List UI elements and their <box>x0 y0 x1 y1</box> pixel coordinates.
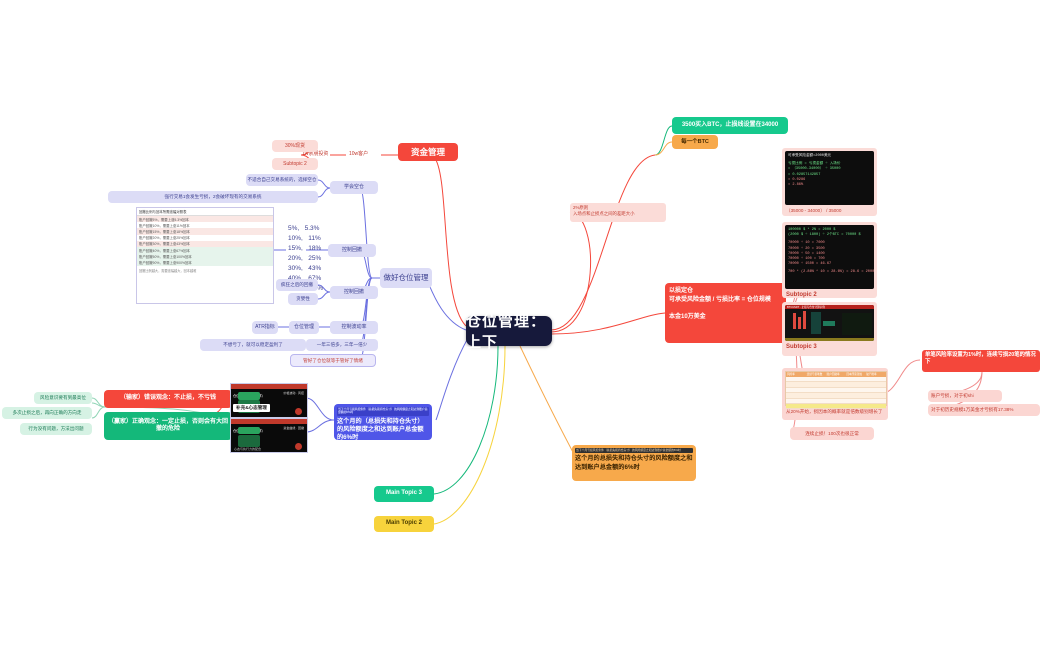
node-history-scale-loss[interactable]: 对于初历史规模1万美金才亏损有17.38% <box>928 404 1040 416</box>
node-main-topic-3[interactable]: Main Topic 3 <box>374 486 434 502</box>
central-node[interactable]: 仓位管理：上下 <box>466 316 552 346</box>
pct-dd-4: 30% <box>288 265 301 272</box>
risk-limit-orange-header: 当下个月亏损风控条件（总损失和持仓头寸）的风险额度之和达到账户总金额的6%时 <box>575 448 693 453</box>
mindmap-canvas: 仓位管理：上下 资金管理 10w客户 1w亲朋投资 30%现货 Subtopic… <box>0 0 1049 650</box>
node-manage-position-equals-emotion[interactable]: 管好了仓位就等于管好了情绪 <box>290 354 376 367</box>
formula-caption: （35000 - 34000） / 35000 <box>785 205 874 214</box>
risk-limit-orange-label: 这个月的总损失和持仓头寸的风险额度之和达到账户总金额的6%时 <box>575 455 693 472</box>
candle-2 <box>798 317 801 329</box>
pct-dd-3: 20% <box>288 255 301 262</box>
sheet-title: 回撤比例与回本所需涨幅对照表 <box>137 208 273 216</box>
chart-card-label: Subtopic 3 <box>785 341 874 350</box>
chart-title-bar: BTCUSDT · 止损与仓位计算示例 <box>785 305 874 309</box>
node-not-suitable-system[interactable]: 不适合自己交易系统的，选择空仓 <box>246 174 318 186</box>
pct-rc-2: 18% <box>308 245 321 252</box>
node-account-loss-beginner[interactable]: 账户亏损，对于初shi <box>928 390 1002 402</box>
risk-limit-blue-label: 这个月的（总损失和持仓头寸）的风险额度之和达到账户总金额的6%时 <box>337 418 429 443</box>
chart-card[interactable]: BTCUSDT · 止损与仓位计算示例 Subtopic 3 <box>782 302 877 356</box>
th: 破产概率 <box>866 372 886 377</box>
node-each-btc[interactable]: 每一个BTC <box>672 135 718 149</box>
node-position-mgmt-sub[interactable]: 仓位管理 <box>289 321 319 334</box>
formula-code-block: 可承受风险金额=2000美元 亏损比例 = 亏损金额 ÷ 入场价 = （3500… <box>785 151 874 205</box>
calc-card-label: Subtopic 2 <box>785 289 874 298</box>
node-control-volatility[interactable]: 控制波动率 <box>330 321 378 334</box>
node-consecutive-stoploss-note[interactable]: 连续止损！100次也很正常 <box>790 427 874 440</box>
video-corner-text: 价格波动 · 风控 <box>283 391 304 395</box>
formula-line: ≈ 2.86% <box>788 183 871 188</box>
th: 账户回撤率 <box>827 372 847 377</box>
calc-line: 700 * (2.86% * 10 = 28.6%) = 28.6 = 2000… <box>788 270 871 275</box>
node-buy-btc-stoploss[interactable]: 3500买入BTC，止损线设置在34000 <box>672 117 788 134</box>
calc-code-block: 100000 $ * 2% = 2000 $ (2000 $ ÷ 1800) ÷… <box>785 225 874 289</box>
th: 连续亏损笔数 <box>807 372 827 377</box>
formula-card[interactable]: 可承受风险金额=2000美元 亏损比例 = 亏损金额 ÷ 入场价 = （3500… <box>782 148 877 216</box>
pct-rc-1: 11% <box>308 235 321 242</box>
node-two-percent-rule[interactable]: 2%原则 入场点和止损点之间的差距大小 <box>570 203 666 222</box>
node-three-times-a-year[interactable]: 一年三倍多，三年一倍少 <box>306 339 378 351</box>
drawdown-table-screenshot[interactable]: 回撤比例与回本所需涨幅对照表 账户回撤5%，需要上涨5.3%回本 账户回撤10%… <box>136 207 274 304</box>
video-caption: 心态与执行力的配合 <box>234 447 261 451</box>
zone-box <box>811 312 821 334</box>
pct-dd-2: 15% <box>288 245 301 252</box>
video-caption: 补充&心态管理 <box>233 404 270 412</box>
video-graphic-body <box>238 435 260 447</box>
entry-marker <box>823 321 835 326</box>
th: 回本所需涨幅 <box>846 372 866 377</box>
video-graphic-top <box>238 427 260 434</box>
node-30-percent-spot[interactable]: 30%现货 <box>272 140 318 152</box>
video-card-2[interactable]: 仓位管理（实操教学） 资金曲线 · 回撤 心态与执行力的配合 <box>230 418 308 453</box>
node-risk-awareness-max[interactable]: 风险意识要有到最高位 <box>34 392 92 404</box>
probability-spreadsheet: 风险率 连续亏损笔数 账户回撤率 回本所需涨幅 破产概率 <box>785 371 887 406</box>
node-loser-wrong-mindset[interactable]: （输家）错误观念：不止损，不亏钱 <box>104 390 232 408</box>
calc-line: (2000 $ ÷ 1800) ÷ 2个BTC = 70000 $ <box>788 233 871 238</box>
pct-rc-4: 43% <box>308 265 321 272</box>
node-loss-based-sizing[interactable]: 以损定仓 可承受风险金额 / 亏损比率 = 仓位规模 本金10万美金 <box>665 283 786 343</box>
node-subtopic-2-left[interactable]: Subtopic 2 <box>272 158 318 170</box>
video-avatar-icon <box>295 443 302 450</box>
risk-limit-blue-header: 当下个月亏损风控条件（总损失和持仓头寸）的风险额度之和达到账户总金额的6%时 <box>337 407 429 416</box>
table-row-highlight <box>786 404 886 409</box>
node-position-management[interactable]: 做好仓位管理 <box>380 268 432 288</box>
video-avatar-icon <box>295 408 302 415</box>
sheet-caption: 回撤比例越大，需要涨幅越大，回本越难 <box>137 266 273 275</box>
node-greed[interactable]: 贪婪性 <box>288 293 318 305</box>
pct-dd-0: 5% <box>288 225 297 232</box>
candle-1 <box>793 313 796 329</box>
node-behavior-ok-method-wrong[interactable]: 行为没有问题，方法出问题 <box>20 423 92 435</box>
node-monthly-risk-limit-blue[interactable]: 当下个月亏损风控条件（总损失和持仓头寸）的风险额度之和达到账户总金额的6%时 这… <box>334 404 432 440</box>
candle-3 <box>803 311 806 329</box>
node-control-drawdown-1[interactable]: 控制回撤 <box>328 244 376 257</box>
node-10w-client[interactable]: 10w客户 <box>349 150 368 157</box>
node-capital-management[interactable]: 资金管理 <box>398 143 458 161</box>
video-graphic-top <box>238 392 260 400</box>
order-book <box>842 313 872 335</box>
pct-rc-0: 5.3% <box>305 225 320 232</box>
th: 风险率 <box>786 372 807 377</box>
video-corner-text: 资金曲线 · 回撤 <box>283 426 304 430</box>
node-not-losing-is-profit[interactable]: 不想亏了，就可以稳定盈利了 <box>200 339 306 351</box>
node-drawdown-after-mania[interactable]: 疯狂之后的回撤 <box>276 279 318 291</box>
node-control-drawdown-2[interactable]: 控制回撤 <box>330 286 378 299</box>
node-monthly-risk-limit-orange[interactable]: 当下个月亏损风控条件（总损失和持仓头寸）的风险额度之和达到账户总金额的6%时 这… <box>572 445 696 481</box>
node-main-topic-2[interactable]: Main Topic 2 <box>374 516 434 532</box>
pct-rc-3: 25% <box>308 255 321 262</box>
video-card-1[interactable]: 仓位管理（实操教学） 价格波动 · 风控 补充&心态管理 <box>230 383 308 418</box>
node-learn-empty-position[interactable]: 学会空仓 <box>330 181 378 194</box>
pct-dd-1: 10% <box>288 235 301 242</box>
chart-footer-bar <box>785 338 874 341</box>
node-one-percent-risk-20-losses[interactable]: 单笔风险率设置为1%时，连续亏损20笔的情况下 <box>922 350 1040 372</box>
trading-chart-screenshot: BTCUSDT · 止损与仓位计算示例 <box>785 305 874 341</box>
node-after-stops-right-direction[interactable]: 多次止损之后，再向正确的方向走 <box>2 407 92 419</box>
table-header-row: 风险率 连续亏损笔数 账户回撤率 回本所需涨幅 破产概率 <box>786 372 886 377</box>
node-forced-trade-risk[interactable]: 强行交易1会发生亏损，2会破坏现有的交易系统 <box>108 191 318 203</box>
probability-table-card[interactable]: 风险率 连续亏损笔数 账户回撤率 回本所需涨幅 破产概率 从20%开始，损因本的… <box>782 368 888 420</box>
node-atr-indicator[interactable]: ATR指标 <box>252 321 278 334</box>
node-winner-right-mindset[interactable]: （赢家）正确观念：一定止损，否则会有大回撤的危险 <box>104 412 232 440</box>
calc-card[interactable]: 100000 $ * 2% = 2000 $ (2000 $ ÷ 1800) ÷… <box>782 222 877 298</box>
